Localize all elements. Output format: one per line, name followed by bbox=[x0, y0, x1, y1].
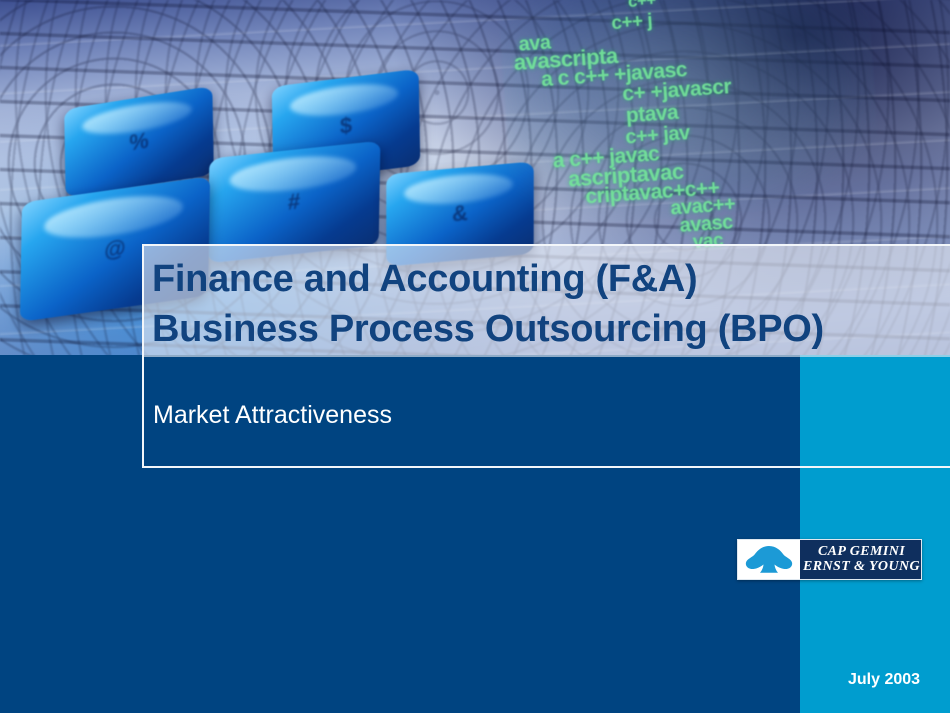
company-logo: CAP GEMINI ERNST & YOUNG bbox=[737, 539, 922, 580]
logo-line-ernst-young: ERNST & YOUNG bbox=[803, 560, 920, 574]
title-frame-rule-extension bbox=[800, 466, 950, 468]
title-area: Finance and Accounting (F&A) Business Pr… bbox=[144, 246, 950, 357]
page-subtitle: Market Attractiveness bbox=[153, 400, 392, 430]
subtitle-area: Market Attractiveness bbox=[144, 357, 950, 466]
code-text: c++ j bbox=[611, 10, 653, 35]
page-title: Finance and Accounting (F&A) Business Pr… bbox=[152, 254, 950, 354]
slide-date: July 2003 bbox=[848, 671, 920, 689]
title-frame: Finance and Accounting (F&A) Business Pr… bbox=[142, 244, 950, 468]
title-line-2: Business Process Outsourcing (BPO) bbox=[152, 304, 950, 354]
title-line-1: Finance and Accounting (F&A) bbox=[152, 254, 950, 304]
code-puzzle-piece: c++ c++ j ava avascripta a c c++ +javasc… bbox=[497, 0, 882, 229]
spade-icon bbox=[744, 545, 794, 575]
title-slide: % $ # @ & c++ c++ j ava avascripta bbox=[0, 0, 950, 713]
logo-line-cap-gemini: CAP GEMINI bbox=[818, 545, 905, 559]
logo-wordmark: CAP GEMINI ERNST & YOUNG bbox=[800, 540, 921, 579]
logo-mark bbox=[738, 540, 800, 579]
